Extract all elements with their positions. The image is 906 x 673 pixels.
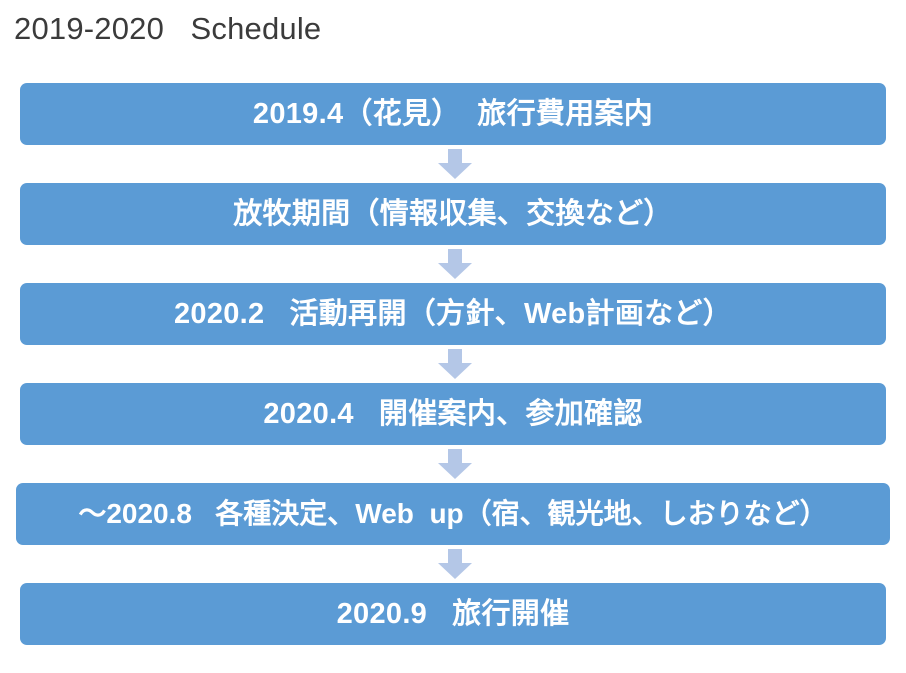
flow-box-2020-2[interactable]: 2020.2 活動再開（方針、Web計画など）: [20, 283, 886, 345]
flowchart: 2019.4（花見） 旅行費用案内 放牧期間（情報収集、交換など）: [0, 83, 906, 645]
flow-connector-1: [0, 145, 906, 183]
flow-connector-5: [0, 545, 906, 583]
flow-connector-3: [0, 345, 906, 383]
flow-box-label: 放牧期間（情報収集、交換など）: [233, 197, 673, 231]
flow-step-3: 2020.2 活動再開（方針、Web計画など）: [0, 283, 906, 345]
flow-box-hoboku-kikan[interactable]: 放牧期間（情報収集、交換など）: [20, 183, 886, 245]
flow-box-label: 2019.4（花見） 旅行費用案内: [253, 97, 653, 131]
flow-step-6: 2020.9 旅行開催: [0, 583, 906, 645]
flow-connector-4: [0, 445, 906, 483]
flow-step-2: 放牧期間（情報収集、交換など）: [0, 183, 906, 245]
flow-step-1: 2019.4（花見） 旅行費用案内: [0, 83, 906, 145]
flow-box-2020-4[interactable]: 2020.4 開催案内、参加確認: [20, 383, 886, 445]
flow-box-2020-9[interactable]: 2020.9 旅行開催: [20, 583, 886, 645]
flow-box-label: 2020.4 開催案内、参加確認: [263, 397, 642, 431]
slide-canvas: 2019-2020 Schedule 2019.4（花見） 旅行費用案内 放牧期…: [0, 0, 906, 673]
flow-box-label: 2020.9 旅行開催: [337, 597, 570, 631]
page-title: 2019-2020 Schedule: [14, 8, 321, 50]
flow-connector-2: [0, 245, 906, 283]
flow-box-label: ～2020.8 各種決定、Web up（宿、観光地、しおりなど）: [78, 497, 827, 531]
flow-box-2020-8[interactable]: ～2020.8 各種決定、Web up（宿、観光地、しおりなど）: [16, 483, 890, 545]
arrow-down-icon: [438, 149, 472, 179]
arrow-down-icon: [438, 449, 472, 479]
flow-step-5: ～2020.8 各種決定、Web up（宿、観光地、しおりなど）: [0, 483, 906, 545]
flow-step-4: 2020.4 開催案内、参加確認: [0, 383, 906, 445]
arrow-down-icon: [438, 549, 472, 579]
arrow-down-icon: [438, 349, 472, 379]
flow-box-label: 2020.2 活動再開（方針、Web計画など）: [174, 297, 732, 331]
arrow-down-icon: [438, 249, 472, 279]
flow-box-2019-4[interactable]: 2019.4（花見） 旅行費用案内: [20, 83, 886, 145]
